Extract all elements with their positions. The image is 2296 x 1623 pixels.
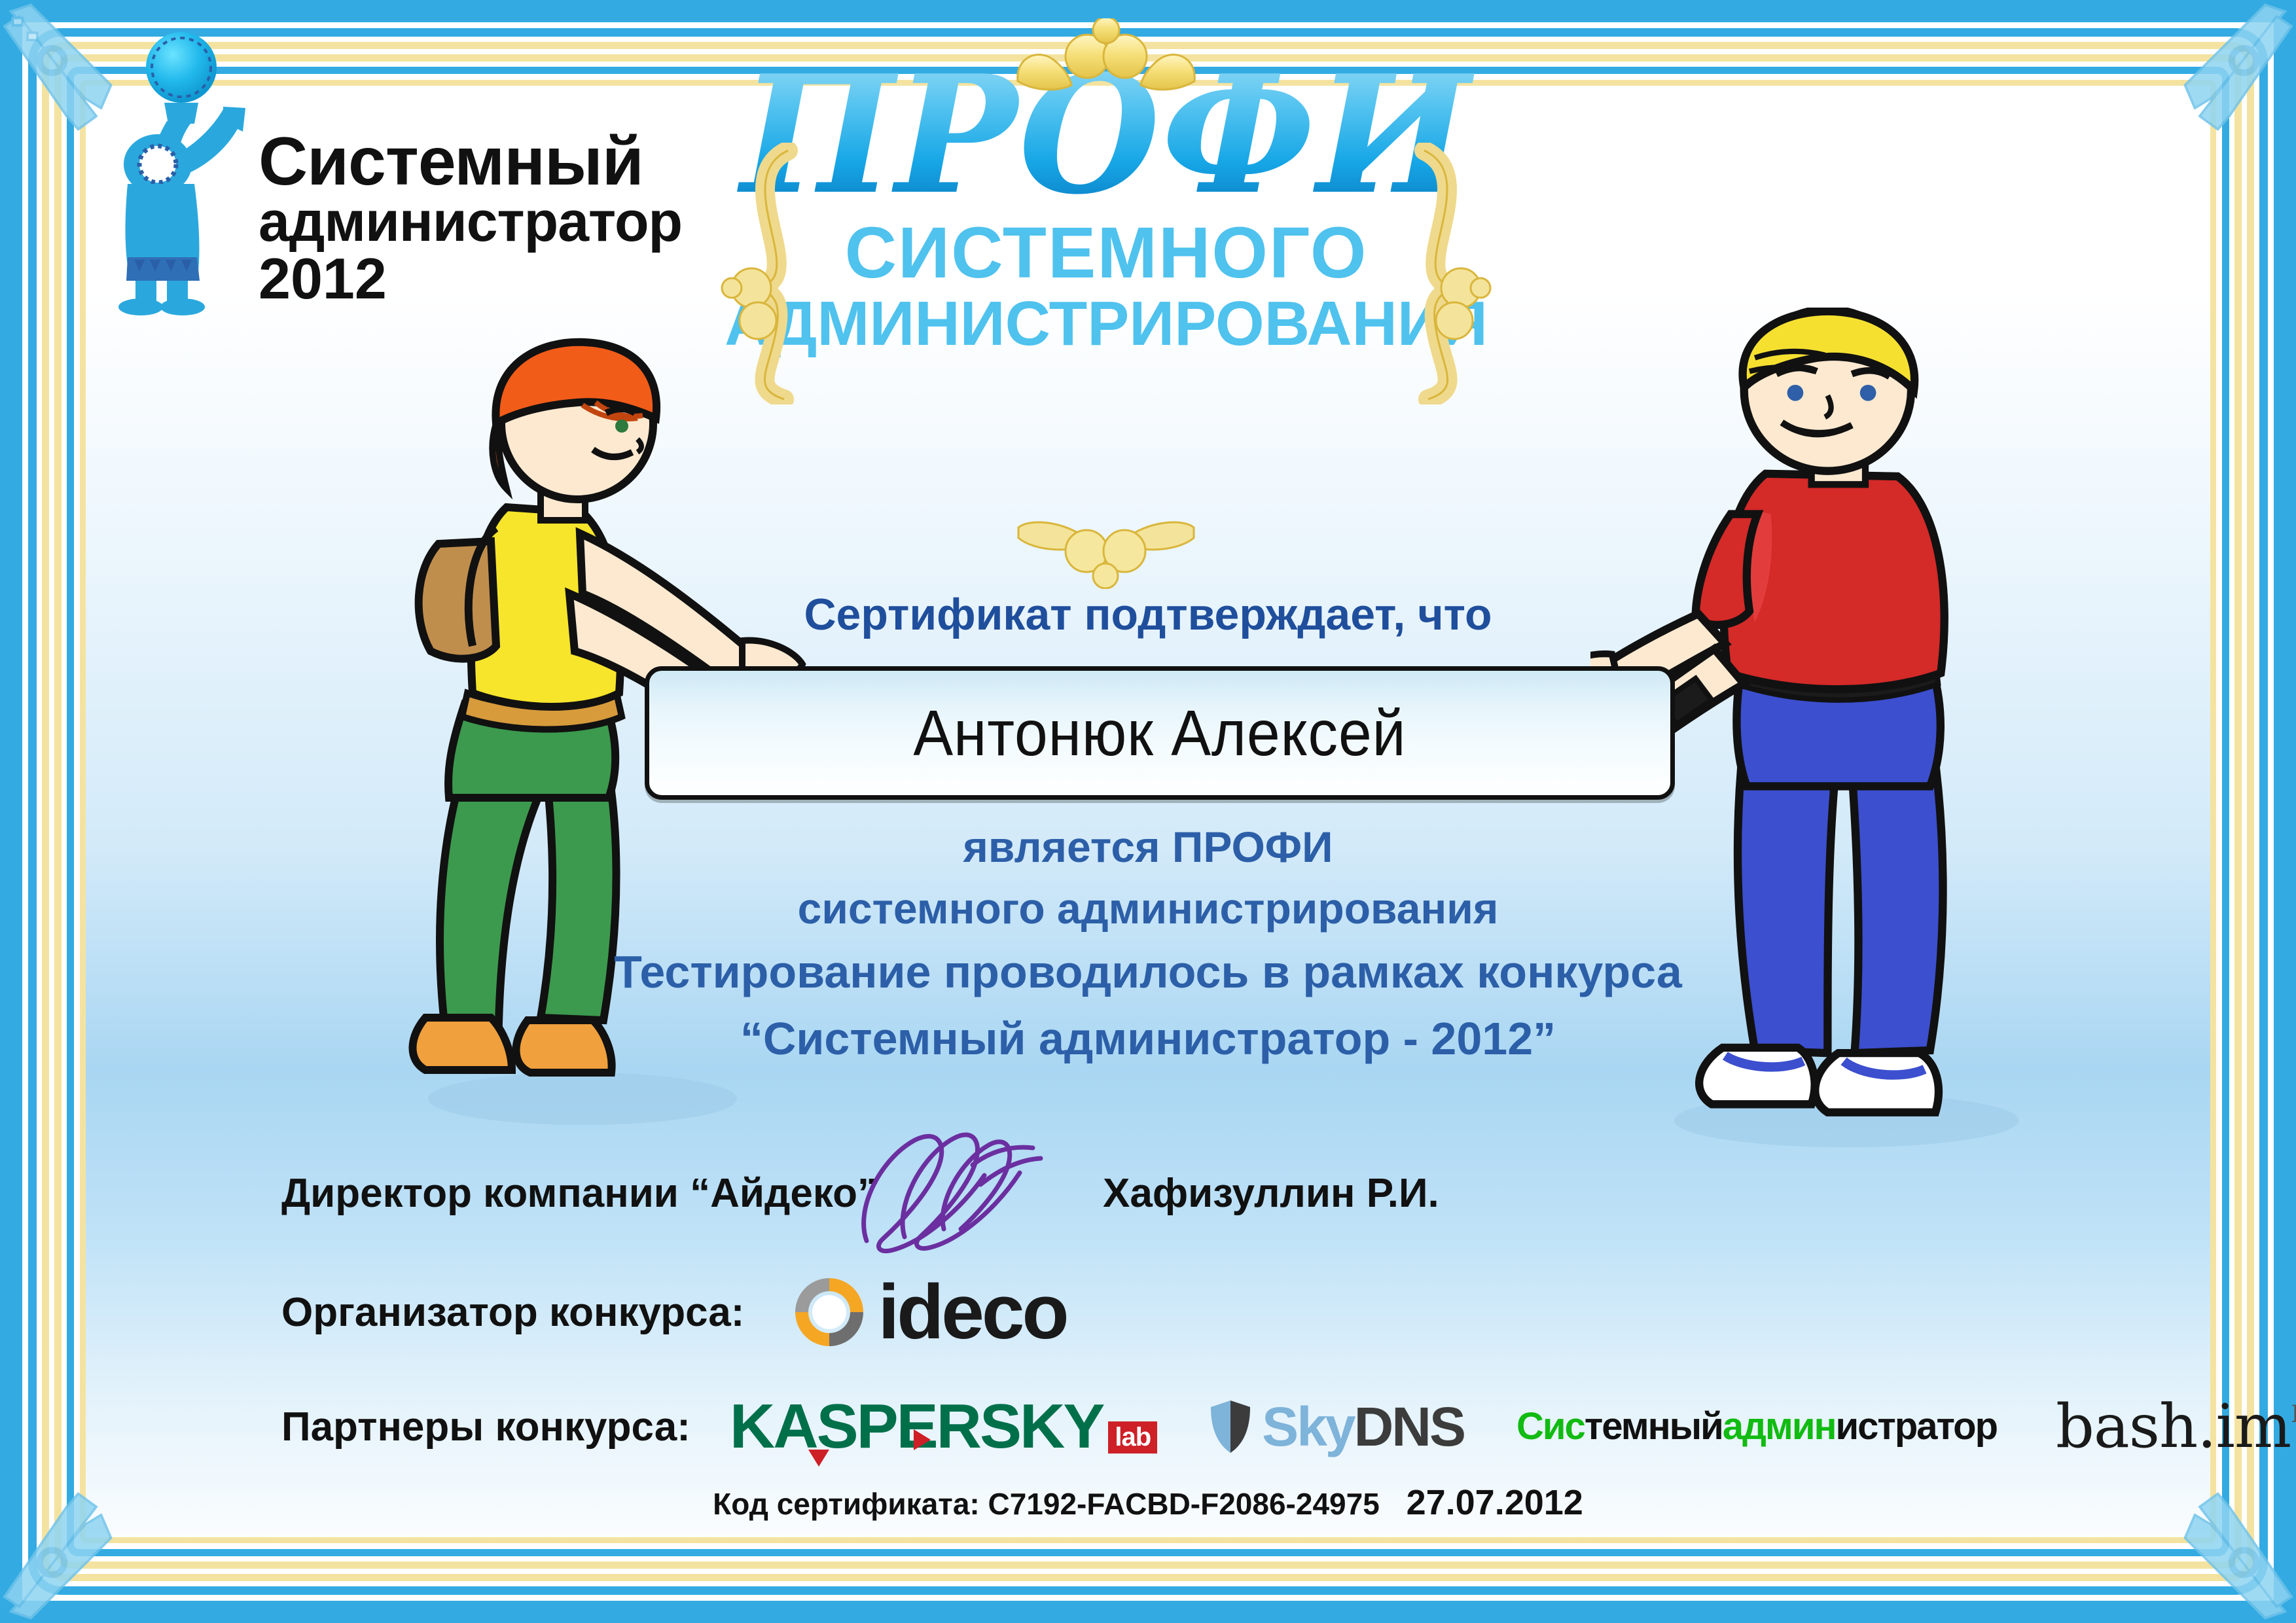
bashim-wordmark: bash.im bbox=[2056, 1397, 2291, 1457]
eskimo-mascot-icon bbox=[101, 29, 272, 317]
shield-icon bbox=[1210, 1399, 1251, 1454]
sa-small-line1-green: Сис bbox=[1516, 1405, 1585, 1448]
bashim-tagline: ЦИТАТНИК РУНЕТА bbox=[2291, 1401, 2296, 1455]
statement-line-3: Тестирование проводилось в рамках конкур… bbox=[0, 939, 2296, 1006]
issue-date: 27.07.2012 bbox=[1407, 1483, 1583, 1522]
partner-logo-sysadmin-magazine: Системный администратор bbox=[1516, 1409, 1997, 1444]
sysadmin-logo-line1: Системный bbox=[259, 131, 638, 194]
partner-logo-skydns: Sky DNS bbox=[1210, 1395, 1464, 1459]
statement-block: является ПРОФИ системного администрирова… bbox=[0, 817, 2296, 1072]
certificate-page: Системный администратор 2012 bbox=[0, 0, 2296, 1623]
confirm-line: Сертификат подтверждает, что bbox=[0, 589, 2296, 640]
skydns-sky-word: Sky bbox=[1262, 1395, 1354, 1459]
gold-ornament-bottom-icon bbox=[1008, 510, 1204, 589]
signature-row: Директор компании “Айдеко” Хафизуллин Р.… bbox=[281, 1152, 1427, 1250]
sa-small-line2-black: истратор bbox=[1836, 1405, 1998, 1448]
signatory-name: Хафизуллин Р.И. bbox=[1103, 1170, 1439, 1217]
statement-line-1: является ПРОФИ bbox=[0, 817, 2296, 878]
recipient-name: Антонюк Алексей bbox=[913, 696, 1406, 770]
kaspersky-triangle-icon bbox=[914, 1429, 931, 1450]
certificate-code-line: Код сертификата: C7192-FACBD-F2086-24975… bbox=[0, 1482, 2296, 1523]
partners-row: Партнеры конкурса: KASPERSKY lab Sky DNS… bbox=[281, 1378, 2179, 1476]
gold-ornament-top-icon bbox=[998, 18, 1214, 97]
kaspersky-lab-badge: lab bbox=[1108, 1421, 1157, 1454]
kaspersky-wordmark: KASPERSKY bbox=[730, 1391, 1103, 1463]
profi-heading-block: ПРОФИ СИСТЕМНОГО АДМИНИСТРИРОВАНИЯ bbox=[681, 59, 1532, 357]
organizer-row: Организатор конкурса: ideco bbox=[281, 1260, 1198, 1364]
kaspersky-triangle-icon bbox=[808, 1450, 829, 1467]
sysadmin-logo-line3: 2012 bbox=[259, 250, 638, 308]
sa-small-line1-black: темный bbox=[1585, 1405, 1723, 1448]
code-value: C7192-FACBD-F2086-24975 bbox=[988, 1487, 1380, 1521]
partner-logo-kaspersky: KASPERSKY lab bbox=[730, 1391, 1157, 1463]
signature-title: Директор компании “Айдеко” bbox=[281, 1170, 878, 1217]
ideco-wordmark: ideco bbox=[878, 1268, 1066, 1357]
skydns-dns-word: DNS bbox=[1354, 1395, 1464, 1459]
handwritten-signature-icon bbox=[844, 1126, 1060, 1263]
partners-label: Партнеры конкурса: bbox=[281, 1404, 691, 1450]
ideco-logo: ideco bbox=[790, 1268, 1066, 1357]
organizer-label: Организатор конкурса: bbox=[281, 1289, 744, 1336]
sysadmin-2012-logo: Системный администратор 2012 bbox=[101, 26, 638, 366]
code-label: Код сертификата: bbox=[713, 1487, 980, 1521]
statement-line-4: “Системный администратор - 2012” bbox=[0, 1006, 2296, 1073]
pliers-corner-icon bbox=[2144, 0, 2296, 157]
sa-small-line2-green: админ bbox=[1723, 1405, 1836, 1448]
statement-line-2: системного администрирования bbox=[0, 878, 2296, 940]
ideco-swirl-icon bbox=[790, 1273, 869, 1351]
sysadmin-logo-line2: администратор bbox=[259, 194, 638, 250]
gold-bracket-right-icon bbox=[1401, 143, 1492, 404]
recipient-name-plate: Антонюк Алексей bbox=[645, 666, 1675, 800]
partner-logo-bashim: bash.im ЦИТАТНИК РУНЕТА bbox=[2056, 1397, 2296, 1457]
